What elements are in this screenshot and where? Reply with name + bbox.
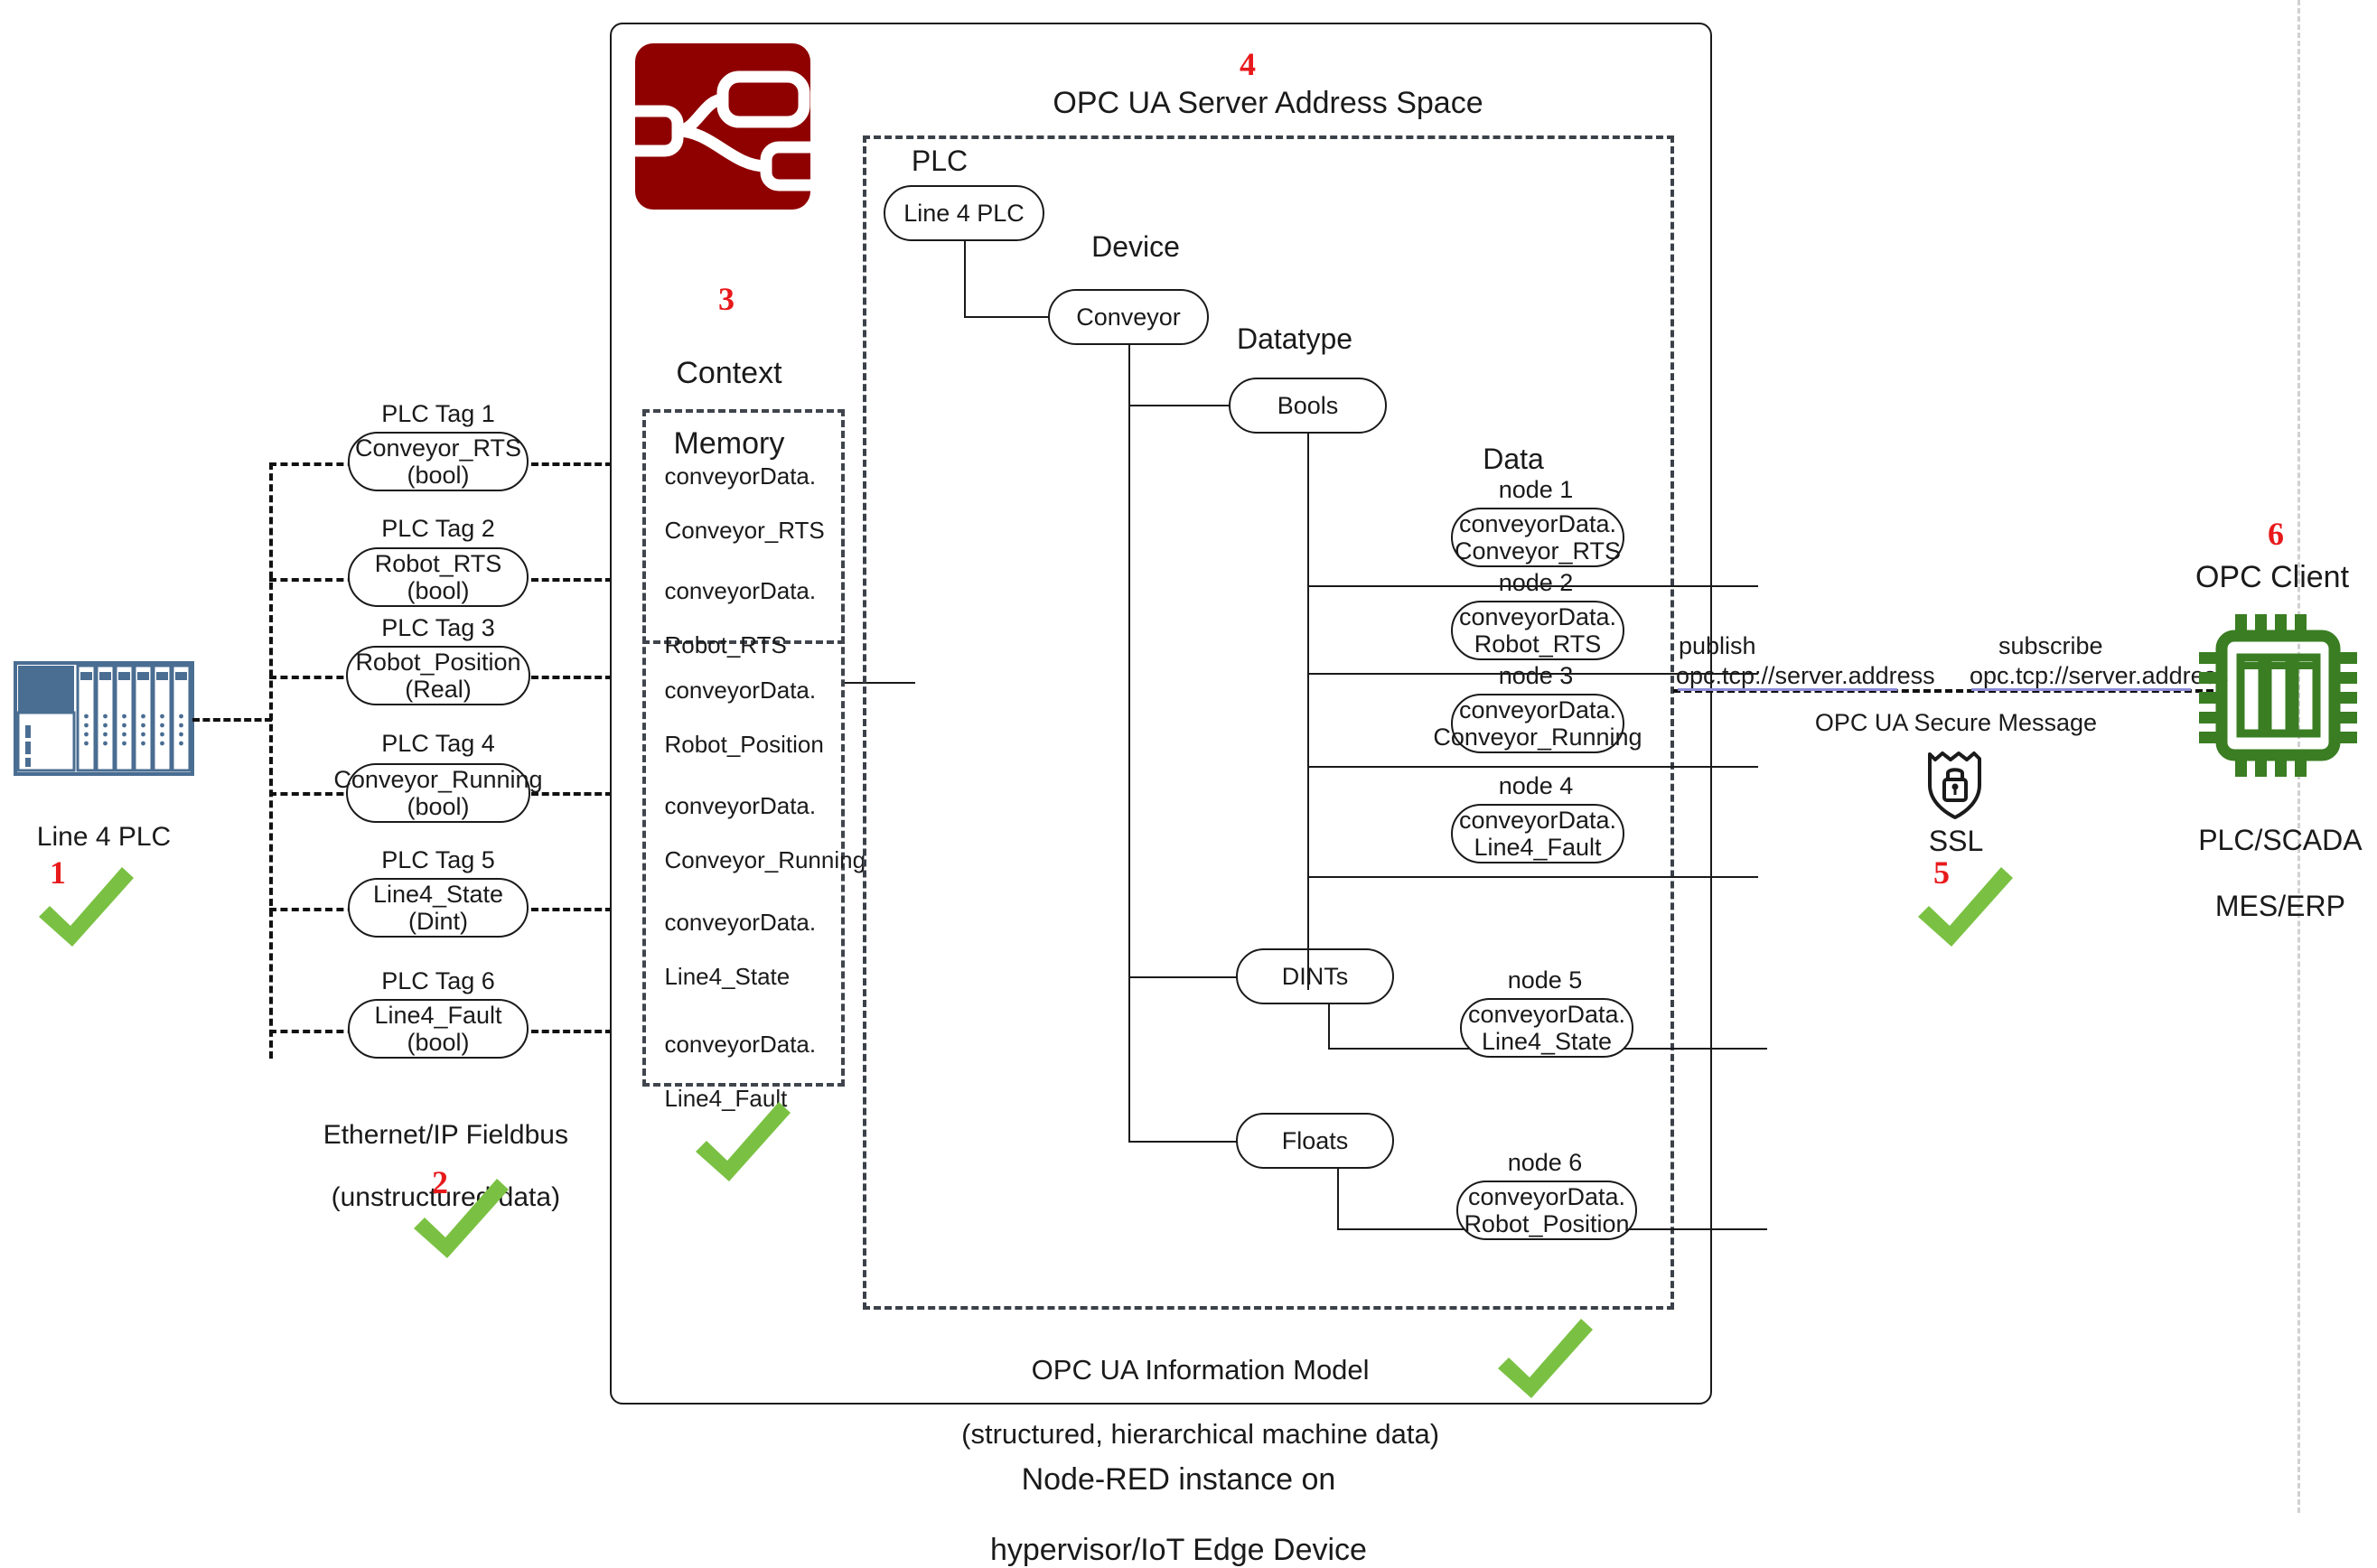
datatype-node-bools: Bools <box>1229 378 1387 434</box>
plc-tag-5-node: Line4_State(Dint) <box>348 878 529 938</box>
edge-device-footer-line2: hypervisor/IoT Edge Device <box>990 1533 1367 1567</box>
address-space-title: OPC UA Server Address Space <box>863 86 1673 121</box>
data-node-2: conveyorData.Robot_RTS <box>1451 601 1624 660</box>
opc-client-sub-line1: PLC/SCADA <box>2198 824 2362 856</box>
plc-tag-4-node: Conveyor_Running(bool) <box>346 763 530 823</box>
plc-tag-5-text: Line4_State(Dint) <box>373 881 503 935</box>
datatype-node-dints: DINTs <box>1236 948 1394 1004</box>
plc-tag-6-caption: PLC Tag 6 <box>348 967 529 995</box>
data-node-6-text: conveyorData.Robot_Position <box>1464 1183 1629 1237</box>
step-3-number: 3 <box>718 280 735 318</box>
plc-tag-5-caption: PLC Tag 5 <box>348 846 529 874</box>
opc-client-title: OPC Client <box>2141 560 2377 595</box>
publish-label: publish <box>1679 632 1832 660</box>
datatype-node-floats: Floats <box>1236 1113 1394 1169</box>
node-red-logo-icon <box>632 41 813 212</box>
tree-line-plc-h <box>964 316 1050 318</box>
plc-tag-3-caption: PLC Tag 3 <box>348 614 529 642</box>
publish-url: opc.tcp://server.address <box>1676 662 1974 690</box>
data-node-3: conveyorData.Conveyor_Running <box>1451 694 1624 753</box>
shield-lock-icon <box>1923 745 1988 822</box>
plc-tag-1-node: Conveyor_RTS(bool) <box>348 432 529 491</box>
tree-line-device-floats <box>1128 1141 1238 1143</box>
data-node-3-caption: node 3 <box>1450 662 1622 690</box>
group-label-datatype: Datatype <box>1209 322 1380 356</box>
step-1-checkmark-icon <box>32 863 140 953</box>
data-node-5-text: conveyorData.Line4_State <box>1468 1001 1625 1055</box>
data-node-5: conveyorData.Line4_State <box>1460 998 1633 1058</box>
context-entry-1-line2: Conveyor_RTS <box>664 517 824 544</box>
context-entry-5-line1: conveyorData. <box>664 909 816 936</box>
step-4-checkmark-icon <box>1491 1314 1599 1405</box>
context-entry-4-line1: conveyorData. <box>664 792 816 819</box>
context-entry-6-line1: conveyorData. <box>664 1031 816 1058</box>
data-node-1-caption: node 1 <box>1450 476 1622 504</box>
data-node-1: conveyorData.Conveyor_RTS <box>1451 508 1624 567</box>
plc-device-label: Line 4 PLC <box>0 822 208 854</box>
context-entry-3-line2: Robot_Position <box>664 731 823 758</box>
fieldbus-caption-line1: Ethernet/IP Fieldbus <box>323 1120 568 1150</box>
context-entry-5: conveyorData. Line4_State <box>642 882 859 991</box>
edge-device-footer: Node-RED instance on hypervisor/IoT Edge… <box>840 1427 1500 1568</box>
subscribe-url-underline <box>1971 688 2191 691</box>
context-entry-5-line2: Line4_State <box>664 963 790 990</box>
tree-line-device-v <box>1128 345 1130 1142</box>
group-label-plc: PLC <box>890 145 989 178</box>
group-label-device: Device <box>1068 230 1203 264</box>
plc-tag-2-node: Robot_RTS(bool) <box>348 547 529 607</box>
publish-url-underline <box>1678 688 1897 691</box>
address-space-footer-line1: OPC UA Information Model <box>1032 1354 1370 1386</box>
tree-line-bools-v <box>1307 434 1309 990</box>
address-space-plc-node: Line 4 PLC <box>884 185 1044 241</box>
step-4-number: 4 <box>1240 45 1256 83</box>
plc-tag-3-text: Robot_Position(Real) <box>355 649 520 703</box>
tree-line-bools-node4 <box>1307 876 1758 878</box>
fieldbus-trunk-line <box>269 462 273 1059</box>
step-2-checkmark-icon <box>407 1174 515 1265</box>
step-6-number: 6 <box>2268 515 2284 553</box>
plc-tag-2-caption: PLC Tag 2 <box>348 515 529 543</box>
data-node-3-text: conveyorData.Conveyor_Running <box>1433 696 1642 751</box>
context-entry-3: conveyorData. Robot_Position <box>642 650 859 759</box>
opc-client-sub-line2: MES/ERP <box>2215 890 2345 922</box>
step-3-checkmark-icon <box>688 1097 797 1188</box>
tree-line-bools-node3 <box>1307 766 1758 768</box>
data-node-6-caption: node 6 <box>1459 1149 1631 1177</box>
data-node-4-caption: node 4 <box>1450 772 1622 800</box>
plc-tag-6-text: Line4_Fault(bool) <box>374 1002 501 1056</box>
data-node-4: conveyorData.Line4_Fault <box>1451 804 1624 863</box>
context-entry-6: conveyorData. Line4_Fault <box>642 1004 859 1113</box>
context-entry-2-line1: conveyorData. <box>664 577 816 604</box>
subscribe-label: subscribe <box>1998 632 2170 660</box>
context-memory-title-line1: Context <box>676 356 781 390</box>
plc-tag-3-node: Robot_Position(Real) <box>346 646 530 705</box>
tree-line-device-bools <box>1128 405 1231 406</box>
plc-tag-4-text: Conveyor_Running(bool) <box>333 766 542 820</box>
data-node-2-text: conveyorData.Robot_RTS <box>1459 603 1616 658</box>
cpu-chip-icon <box>2199 614 2357 777</box>
plc-tag-2-text: Robot_RTS(bool) <box>375 550 502 604</box>
plc-to-fieldbus-line <box>192 718 272 722</box>
tree-line-plc-v <box>964 241 966 318</box>
plc-tag-1-text: Conveyor_RTS(bool) <box>355 434 521 489</box>
plc-tag-1-caption: PLC Tag 1 <box>348 400 529 428</box>
plc-tag-6-node: Line4_Fault(bool) <box>348 999 529 1059</box>
ssl-label: SSL <box>1897 825 2015 858</box>
data-node-4-text: conveyorData.Line4_Fault <box>1459 807 1616 861</box>
context-entry-3-line1: conveyorData. <box>664 677 816 704</box>
tree-line-floats-v <box>1337 1169 1339 1230</box>
context-entry-4: conveyorData. Conveyor_Running <box>642 766 868 874</box>
context-entry-2: conveyorData. Robot_RTS <box>642 551 859 659</box>
edge-device-footer-line1: Node-RED instance on <box>1022 1462 1336 1497</box>
tree-line-device-dints <box>1128 976 1238 978</box>
opc-client-subtitle: PLC/SCADA MES/ERP <box>2141 790 2377 923</box>
step-5-checkmark-icon <box>1911 863 2019 953</box>
data-node-1-text: conveyorData.Conveyor_RTS <box>1455 510 1621 565</box>
context-entry-1: conveyorData. Conveyor_RTS <box>642 436 859 545</box>
plc-rack-icon <box>14 662 193 775</box>
data-node-6: conveyorData.Robot_Position <box>1456 1181 1637 1240</box>
data-node-5-caption: node 5 <box>1459 966 1631 994</box>
plc-tag-4-caption: PLC Tag 4 <box>348 730 529 758</box>
secure-message-label: OPC UA Secure Message <box>1793 709 2119 737</box>
address-space-device-node: Conveyor <box>1048 289 1209 345</box>
tree-line-dints-v <box>1328 1004 1330 1050</box>
context-entry-1-line1: conveyorData. <box>664 462 816 490</box>
group-label-data: Data <box>1432 443 1595 476</box>
context-entry-4-line2: Conveyor_Running <box>664 846 866 873</box>
data-node-2-caption: node 2 <box>1450 569 1622 597</box>
